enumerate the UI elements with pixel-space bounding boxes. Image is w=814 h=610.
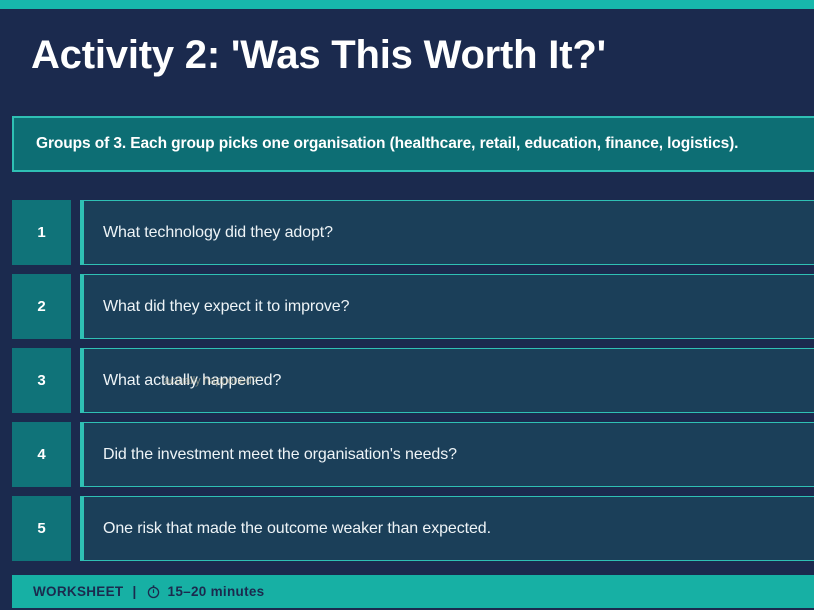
footer-duration: 15–20 minutes (168, 584, 265, 599)
footer-content: WORKSHEET | 15–20 minutes (12, 584, 264, 599)
slide: Activity 2: 'Was This Worth It?' Groups … (0, 0, 814, 610)
instruction-banner: Groups of 3. Each group picks one organi… (12, 116, 814, 172)
question-text: One risk that made the outcome weaker th… (84, 520, 491, 538)
question-number: 1 (12, 200, 71, 265)
list-item: 1 What technology did they adopt? (12, 200, 814, 265)
list-item: 4 Did the investment meet the organisati… (12, 422, 814, 487)
question-number: 3 (12, 348, 71, 413)
question-number: 4 (12, 422, 71, 487)
question-card: One risk that made the outcome weaker th… (80, 496, 814, 561)
question-card: What did they expect it to improve? (80, 274, 814, 339)
list-item: 2 What did they expect it to improve? (12, 274, 814, 339)
question-card: What actually happened? actually happene… (80, 348, 814, 413)
question-text: What technology did they adopt? (84, 224, 333, 242)
list-item: 3 What actually happened? actually happe… (12, 348, 814, 413)
question-text: What did they expect it to improve? (84, 298, 349, 316)
footer-label: WORKSHEET (33, 584, 123, 599)
question-card: Did the investment meet the organisation… (80, 422, 814, 487)
question-list: 1 What technology did they adopt? 2 What… (12, 200, 814, 570)
footer-separator: | (132, 584, 136, 599)
question-card: What technology did they adopt? (80, 200, 814, 265)
footer-bar: WORKSHEET | 15–20 minutes (12, 575, 814, 608)
question-number: 5 (12, 496, 71, 561)
list-item: 5 One risk that made the outcome weaker … (12, 496, 814, 561)
stopwatch-icon (146, 584, 161, 599)
page-title: Activity 2: 'Was This Worth It?' (31, 32, 606, 78)
question-text: What actually happened? (84, 372, 281, 390)
question-text: Did the investment meet the organisation… (84, 446, 457, 464)
instruction-banner-text: Groups of 3. Each group picks one organi… (14, 135, 738, 153)
top-accent-bar (0, 0, 814, 9)
question-number: 2 (12, 274, 71, 339)
